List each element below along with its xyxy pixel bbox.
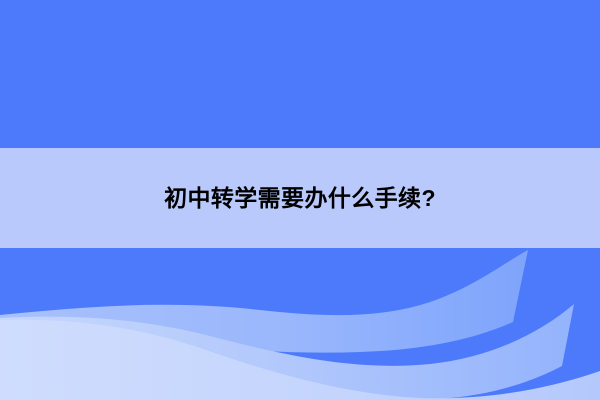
wave-banner bbox=[0, 248, 600, 400]
layered-wave-graphic bbox=[0, 248, 600, 400]
top-banner bbox=[0, 0, 600, 148]
headline-banner: 初中转学需要办什么手续? bbox=[0, 148, 600, 248]
page-title: 初中转学需要办什么手续? bbox=[164, 187, 436, 210]
poster-canvas: 初中转学需要办什么手续? bbox=[0, 0, 600, 400]
